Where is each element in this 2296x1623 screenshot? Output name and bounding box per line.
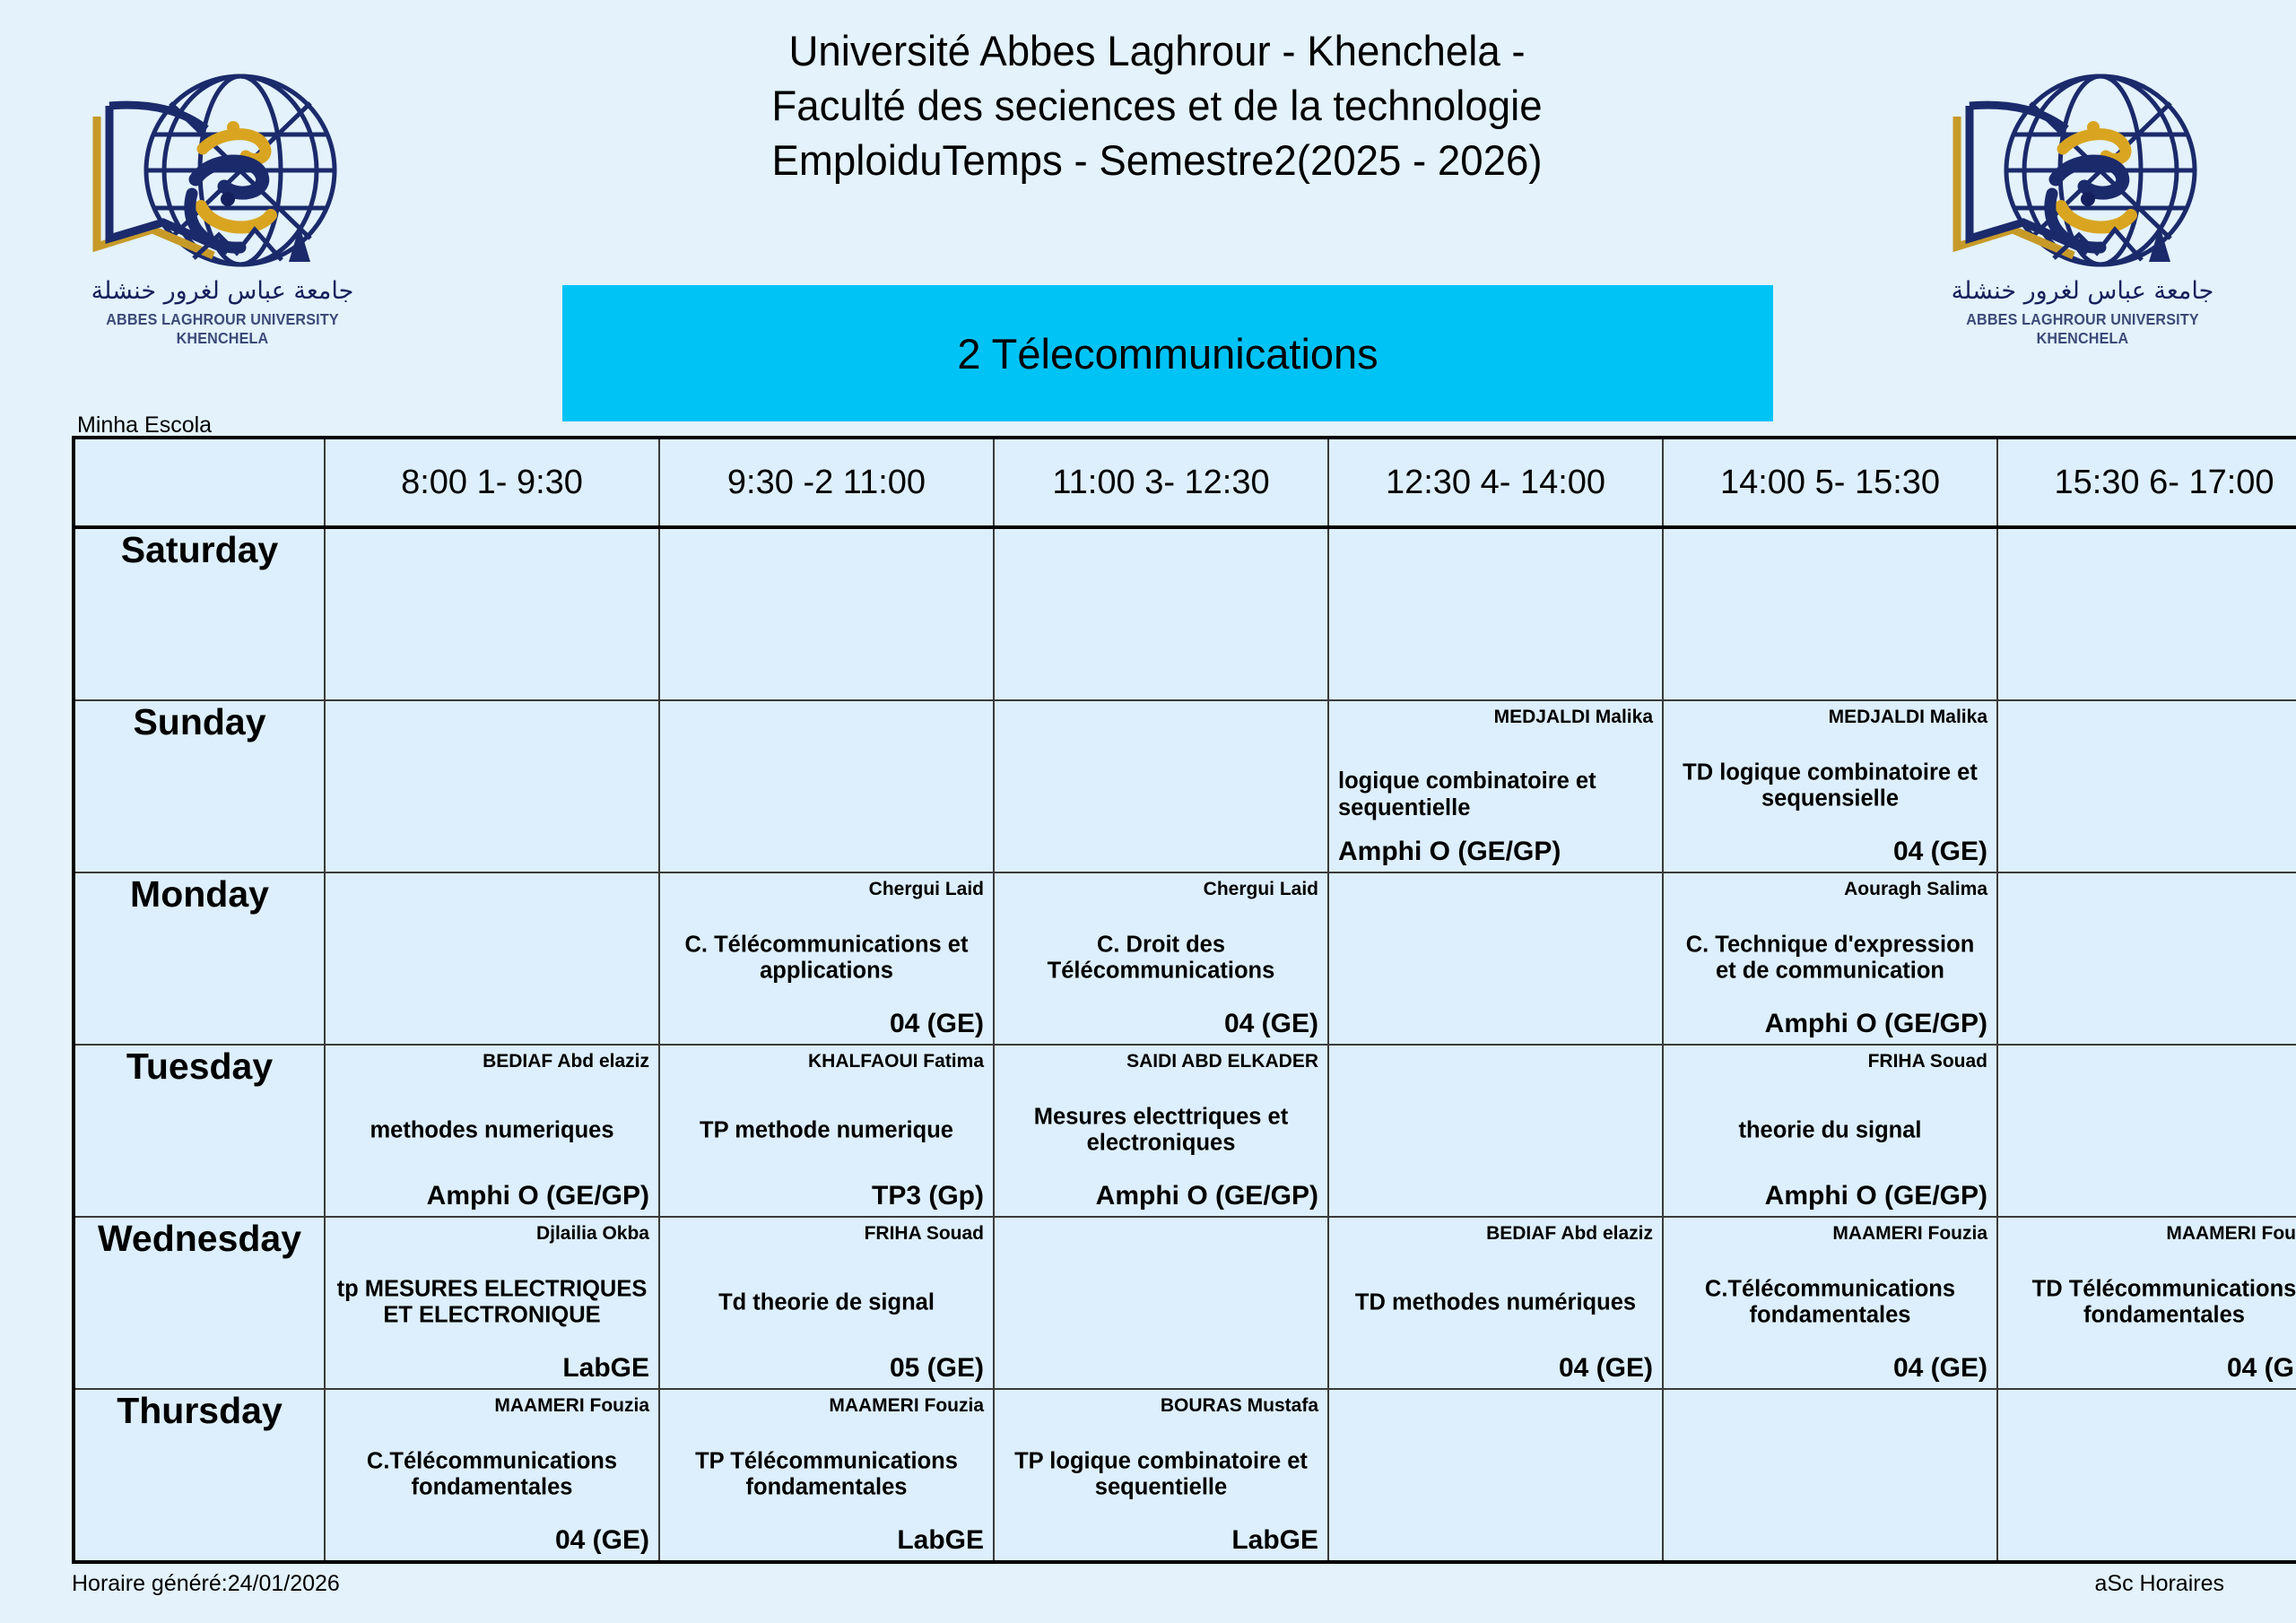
footer-app-name: aSc Horaires: [2095, 1571, 2225, 1597]
lesson-cell-content: BEDIAF Abd elazizmethodes numeriquesAmph…: [326, 1046, 658, 1216]
lesson-cell-content: [995, 1218, 1327, 1388]
page-title: Université Abbes Laghrour - Khenchela - …: [574, 23, 1740, 187]
lesson-room: LabGE: [335, 1353, 649, 1383]
lesson-room: Amphi O (GE/GP): [1338, 837, 1653, 866]
lesson-room: 04 (GE): [1338, 1353, 1653, 1383]
timetable-row: Saturday: [74, 527, 2296, 700]
lesson-cell-content: MEDJALDI MalikaTD logique combinatoire e…: [1664, 701, 1996, 872]
lesson-teacher: FRIHA Souad: [1673, 1051, 1987, 1072]
lesson-room: 04 (GE): [335, 1525, 649, 1555]
lesson-room: Amphi O (GE/GP): [1004, 1181, 1318, 1211]
lesson-teacher: SAIDI ABD ELKADER: [1004, 1051, 1318, 1072]
logo-arabic-text: جامعة عباس لغرور خنشلة: [70, 279, 375, 303]
lesson-cell-content: [1329, 1390, 1662, 1560]
lesson-teacher: MAAMERI Fouzia: [335, 1395, 649, 1416]
lesson-cell-content: Aouragh SalimaC. Technique d'expression …: [1664, 873, 1996, 1044]
lesson-subject: logique combinatoire et sequentielle: [1338, 768, 1653, 821]
lesson-cell[interactable]: Aouragh SalimaC. Technique d'expression …: [1663, 872, 1997, 1045]
lesson-cell[interactable]: KHALFAOUI FatimaTP methode numeriqueTP3 …: [659, 1045, 994, 1217]
time-slot-header-2: 9:30 -2 11:00: [659, 438, 994, 527]
lesson-cell-content: [326, 873, 658, 1044]
lesson-teacher: Chergui Laid: [1004, 879, 1318, 899]
lesson-room: Amphi O (GE/GP): [1673, 1009, 1987, 1038]
timetable-header-row: 8:00 1- 9:309:30 -2 11:0011:00 3- 12:301…: [74, 438, 2296, 527]
lesson-cell[interactable]: BEDIAF Abd elazizTD methodes numériques0…: [1328, 1217, 1663, 1389]
lesson-cell-content: [1998, 1046, 2296, 1216]
lesson-cell[interactable]: [994, 1217, 1328, 1389]
lesson-cell-content: KHALFAOUI FatimaTP methode numeriqueTP3 …: [660, 1046, 993, 1216]
lesson-subject: TD methodes numériques: [1338, 1289, 1653, 1315]
lesson-teacher: BOURAS Mustafa: [1004, 1395, 1318, 1416]
timetable-row: ThursdayMAAMERI FouziaC.Télécommunicatio…: [74, 1389, 2296, 1562]
lesson-cell[interactable]: [994, 527, 1328, 700]
lesson-cell-content: [660, 529, 993, 699]
lesson-cell-content: BOURAS MustafaTP logique combinatoire et…: [995, 1390, 1327, 1560]
university-logo-left: جامعة عباس لغرور خنشلة ABBES LAGHROUR UN…: [70, 63, 375, 350]
lesson-subject: TD logique combinatoire et sequensielle: [1673, 760, 1987, 813]
title-line-2: Faculté des seciences et de la technolog…: [592, 78, 1723, 133]
lesson-subject: TP methode numerique: [669, 1117, 984, 1143]
lesson-cell[interactable]: BEDIAF Abd elazizmethodes numeriquesAmph…: [325, 1045, 659, 1217]
lesson-cell[interactable]: [1997, 872, 2296, 1045]
lesson-subject: C.Télécommunications fondamentales: [335, 1449, 649, 1502]
day-label-thursday: Thursday: [74, 1389, 325, 1562]
lesson-cell[interactable]: BOURAS MustafaTP logique combinatoire et…: [994, 1389, 1328, 1562]
lesson-room: Amphi O (GE/GP): [335, 1181, 649, 1211]
lesson-cell-content: FRIHA Souadtheorie du signalAmphi O (GE/…: [1664, 1046, 1996, 1216]
lesson-cell-content: [326, 529, 658, 699]
lesson-cell[interactable]: [325, 527, 659, 700]
lesson-room: Amphi O (GE/GP): [1673, 1181, 1987, 1211]
lesson-teacher: MAAMERI Fouzia: [2007, 1223, 2296, 1244]
lesson-teacher: MAAMERI Fouzia: [1673, 1223, 1987, 1244]
lesson-room: 04 (GE): [2007, 1353, 2296, 1383]
lesson-subject: Mesures electtriques et electroniques: [1004, 1105, 1318, 1158]
lesson-cell-content: [1998, 529, 2296, 699]
lesson-cell[interactable]: [659, 700, 994, 872]
lesson-subject: TP logique combinatoire et sequentielle: [1004, 1449, 1318, 1502]
lesson-cell-content: FRIHA SouadTd theorie de signal05 (GE): [660, 1218, 993, 1388]
lesson-subject: methodes numeriques: [335, 1117, 649, 1143]
lesson-subject: C.Télécommunications fondamentales: [1673, 1277, 1987, 1330]
lesson-cell-content: [1998, 1390, 2296, 1560]
lesson-teacher: Aouragh Salima: [1673, 879, 1987, 899]
time-slot-header-6: 15:30 6- 17:00: [1997, 438, 2296, 527]
lesson-cell[interactable]: FRIHA SouadTd theorie de signal05 (GE): [659, 1217, 994, 1389]
lesson-cell-content: Chergui LaidC. Télécommunications et app…: [660, 873, 993, 1044]
lesson-room: 04 (GE): [669, 1009, 984, 1038]
lesson-cell[interactable]: [1997, 527, 2296, 700]
lesson-cell[interactable]: MEDJALDI Malikalogique combinatoire et s…: [1328, 700, 1663, 872]
lesson-cell[interactable]: [1997, 1045, 2296, 1217]
lesson-cell-content: [1664, 1390, 1996, 1560]
lesson-room: 04 (GE): [1673, 837, 1987, 866]
class-banner: 2 Télecommunications: [562, 285, 1773, 421]
logo-english-text: ABBES LAGHROUR UNIVERSITY KHENCHELA: [1943, 310, 2223, 348]
lesson-teacher: MEDJALDI Malika: [1673, 707, 1987, 727]
lesson-subject: theorie du signal: [1673, 1117, 1987, 1143]
lesson-teacher: MEDJALDI Malika: [1338, 707, 1653, 727]
lesson-cell-content: Chergui LaidC. Droit des Télécommunicati…: [995, 873, 1327, 1044]
lesson-subject: TD Télécommunications fondamentales: [2007, 1277, 2296, 1330]
lesson-cell-content: [326, 701, 658, 872]
lesson-cell-content: [660, 701, 993, 872]
lesson-subject: tp MESURES ELECTRIQUES ET ELECTRONIQUE: [335, 1277, 649, 1330]
time-slot-header-5: 14:00 5- 15:30: [1663, 438, 1997, 527]
lesson-cell[interactable]: [994, 700, 1328, 872]
lesson-teacher: MAAMERI Fouzia: [669, 1395, 984, 1416]
lesson-cell[interactable]: MAAMERI FouziaC.Télécommunications fonda…: [325, 1389, 659, 1562]
lesson-cell[interactable]: [1997, 700, 2296, 872]
logo-english-text: ABBES LAGHROUR UNIVERSITY KHENCHELA: [83, 310, 363, 348]
lesson-cell-content: [1998, 701, 2296, 872]
timetable-page: جامعة عباس لغرور خنشلة ABBES LAGHROUR UN…: [0, 0, 2296, 1623]
lesson-cell-content: [1998, 873, 2296, 1044]
logo-arabic-text: جامعة عباس لغرور خنشلة: [1930, 279, 2235, 303]
day-label-wednesday: Wednesday: [74, 1217, 325, 1389]
lesson-cell-content: MAAMERI FouziaTD Télécommunications fond…: [1998, 1218, 2296, 1388]
day-label-saturday: Saturday: [74, 527, 325, 700]
lesson-cell-content: [1329, 1046, 1662, 1216]
timetable-row: MondayChergui LaidC. Télécommunications …: [74, 872, 2296, 1045]
lesson-teacher: Chergui Laid: [669, 879, 984, 899]
university-crest-icon: [1930, 63, 2235, 282]
lesson-room: 04 (GE): [1004, 1009, 1318, 1038]
day-label-sunday: Sunday: [74, 700, 325, 872]
lesson-cell-content: BEDIAF Abd elazizTD methodes numériques0…: [1329, 1218, 1662, 1388]
lesson-cell-content: [995, 701, 1327, 872]
lesson-cell[interactable]: [325, 700, 659, 872]
title-line-3: EmploiduTemps - Semestre2(2025 - 2026): [592, 133, 1723, 187]
lesson-teacher: KHALFAOUI Fatima: [669, 1051, 984, 1072]
lesson-cell[interactable]: Chergui LaidC. Droit des Télécommunicati…: [994, 872, 1328, 1045]
lesson-cell-content: [995, 529, 1327, 699]
lesson-cell[interactable]: [1997, 1389, 2296, 1562]
lesson-cell[interactable]: [1663, 1389, 1997, 1562]
lesson-cell[interactable]: [1663, 527, 1997, 700]
timetable-row: WednesdayDjlailia Okbatp MESURES ELECTRI…: [74, 1217, 2296, 1389]
lesson-subject: TP Télécommunications fondamentales: [669, 1449, 984, 1502]
lesson-room: 04 (GE): [1673, 1353, 1987, 1383]
lesson-subject: Td theorie de signal: [669, 1289, 984, 1315]
university-crest-icon: [70, 63, 375, 282]
lesson-room: 05 (GE): [669, 1353, 984, 1383]
university-logo-right: جامعة عباس لغرور خنشلة ABBES LAGHROUR UN…: [1930, 63, 2235, 350]
lesson-room: LabGE: [669, 1525, 984, 1555]
time-slot-header-1: 8:00 1- 9:30: [325, 438, 659, 527]
lesson-cell[interactable]: [1328, 872, 1663, 1045]
lesson-cell-content: [1664, 529, 1996, 699]
lesson-cell[interactable]: [1328, 1389, 1663, 1562]
timetable-row: SundayMEDJALDI Malikalogique combinatoir…: [74, 700, 2296, 872]
lesson-cell[interactable]: [659, 527, 994, 700]
watermark-label: Minha Escola: [77, 412, 212, 438]
lesson-cell[interactable]: MEDJALDI MalikaTD logique combinatoire e…: [1663, 700, 1997, 872]
lesson-cell-content: SAIDI ABD ELKADERMesures electtriques et…: [995, 1046, 1327, 1216]
lesson-teacher: BEDIAF Abd elaziz: [1338, 1223, 1653, 1244]
lesson-cell[interactable]: [1328, 1045, 1663, 1217]
lesson-cell[interactable]: [325, 872, 659, 1045]
footer-generated-date: Horaire généré:24/01/2026: [72, 1571, 340, 1597]
lesson-cell[interactable]: FRIHA Souadtheorie du signalAmphi O (GE/…: [1663, 1045, 1997, 1217]
lesson-subject: C. Droit des Télécommunications: [1004, 933, 1318, 985]
lesson-room: LabGE: [1004, 1525, 1318, 1555]
lesson-cell-content: MAAMERI FouziaC.Télécommunications fonda…: [1664, 1218, 1996, 1388]
lesson-cell[interactable]: MAAMERI FouziaTP Télécommunications fond…: [659, 1389, 994, 1562]
lesson-cell[interactable]: MAAMERI FouziaC.Télécommunications fonda…: [1663, 1217, 1997, 1389]
lesson-cell-content: MAAMERI FouziaTP Télécommunications fond…: [660, 1390, 993, 1560]
lesson-cell-content: MAAMERI FouziaC.Télécommunications fonda…: [326, 1390, 658, 1560]
day-label-monday: Monday: [74, 872, 325, 1045]
lesson-cell[interactable]: Djlailia Okbatp MESURES ELECTRIQUES ET E…: [325, 1217, 659, 1389]
day-label-tuesday: Tuesday: [74, 1045, 325, 1217]
header-corner-cell: [74, 438, 325, 527]
timetable-row: TuesdayBEDIAF Abd elazizmethodes numeriq…: [74, 1045, 2296, 1217]
lesson-teacher: BEDIAF Abd elaziz: [335, 1051, 649, 1072]
timetable: 8:00 1- 9:309:30 -2 11:0011:00 3- 12:301…: [72, 436, 2296, 1564]
lesson-room: TP3 (Gp): [669, 1181, 984, 1211]
time-slot-header-4: 12:30 4- 14:00: [1328, 438, 1663, 527]
lesson-cell[interactable]: Chergui LaidC. Télécommunications et app…: [659, 872, 994, 1045]
lesson-cell-content: [1329, 529, 1662, 699]
lesson-teacher: FRIHA Souad: [669, 1223, 984, 1244]
title-line-1: Université Abbes Laghrour - Khenchela -: [592, 23, 1723, 78]
class-banner-label: 2 Télecommunications: [957, 329, 1378, 378]
lesson-subject: C. Télécommunications et applications: [669, 933, 984, 985]
lesson-cell-content: MEDJALDI Malikalogique combinatoire et s…: [1329, 701, 1662, 872]
lesson-cell[interactable]: SAIDI ABD ELKADERMesures electtriques et…: [994, 1045, 1328, 1217]
lesson-subject: C. Technique d'expression et de communic…: [1673, 933, 1987, 985]
lesson-teacher: Djlailia Okba: [335, 1223, 649, 1244]
lesson-cell[interactable]: [1328, 527, 1663, 700]
lesson-cell-content: [1329, 873, 1662, 1044]
time-slot-header-3: 11:00 3- 12:30: [994, 438, 1328, 527]
lesson-cell[interactable]: MAAMERI FouziaTD Télécommunications fond…: [1997, 1217, 2296, 1389]
footer: Horaire généré:24/01/2026 aSc Horaires: [72, 1571, 2224, 1597]
lesson-cell-content: Djlailia Okbatp MESURES ELECTRIQUES ET E…: [326, 1218, 658, 1388]
